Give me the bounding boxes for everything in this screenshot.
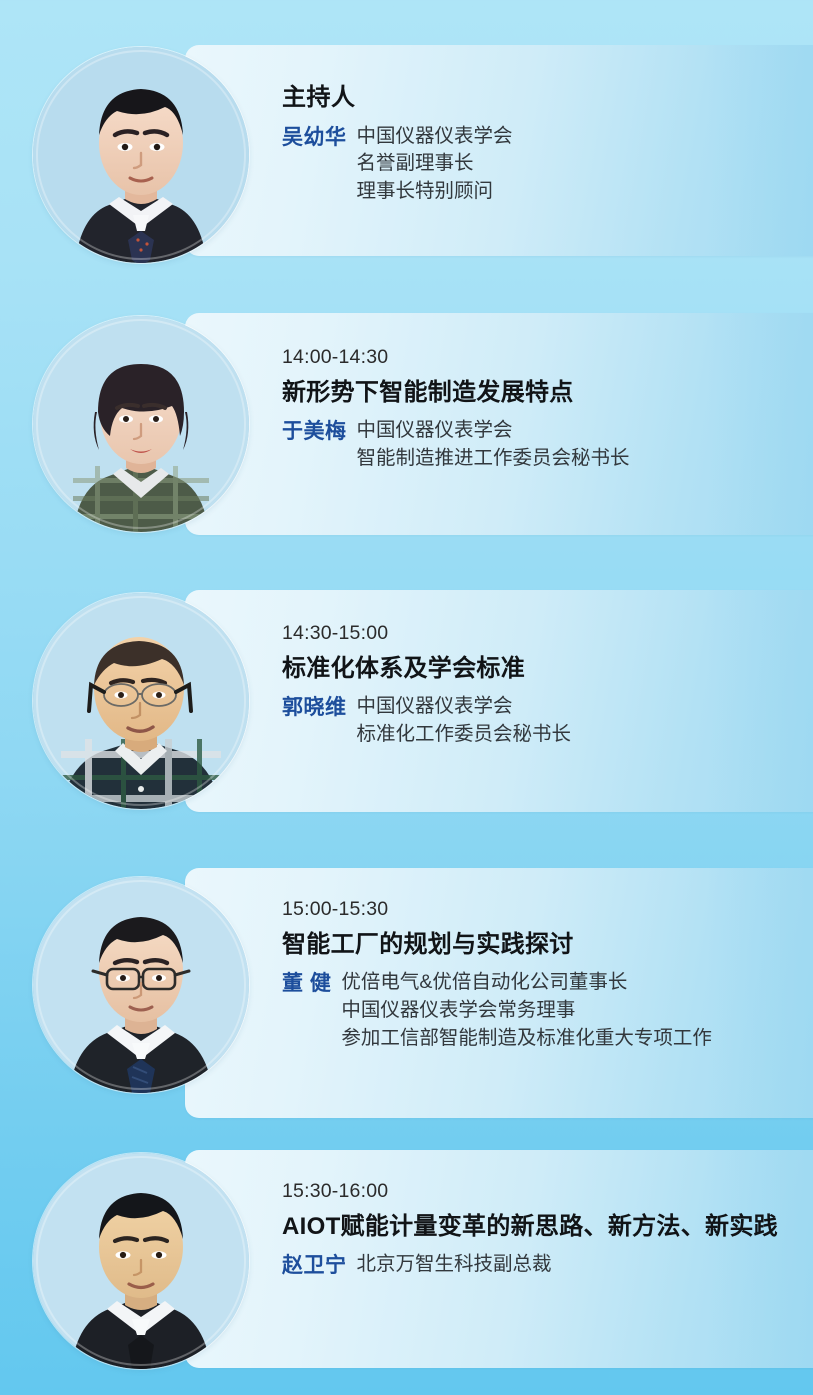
affiliation-item: 中国仪器仪表学会 [357, 693, 806, 721]
session-time-s3: 15:00-15:30 [282, 898, 805, 920]
avatar-host [33, 47, 249, 263]
affiliation-item: 参加工信部智能制造及标准化重大专项工作 [341, 1025, 805, 1053]
affiliation-list-s1: 中国仪器仪表学会 智能制造推进工作委员会秘书长 [357, 417, 806, 472]
session-text-s1: 14:00-14:30 新形势下智能制造发展特点 于美梅 中国仪器仪表学会 智能… [282, 346, 805, 473]
session-text-host: 主持人 吴幼华 中国仪器仪表学会 名誉副理事长 理事长特别顾问 [282, 84, 805, 206]
affiliation-item: 智能制造推进工作委员会秘书长 [357, 445, 806, 473]
affiliation-list-s3: 优倍电气&优倍自动化公司董事长 中国仪器仪表学会常务理事 参加工信部智能制造及标… [341, 969, 805, 1052]
avatar-photo-s3 [33, 877, 249, 1093]
session-time-s4: 15:30-16:00 [282, 1180, 805, 1202]
avatar-photo-s4 [33, 1153, 249, 1369]
avatar-s4 [33, 1153, 249, 1369]
session-text-s2: 14:30-15:00 标准化体系及学会标准 郭晓维 中国仪器仪表学会 标准化工… [282, 622, 805, 749]
speaker-name-s2: 郭晓维 [282, 693, 347, 723]
session-topic-s4: AIOT赋能计量变革的新思路、新方法、新实践 [282, 1213, 805, 1242]
session-topic-s1: 新形势下智能制造发展特点 [282, 379, 805, 408]
avatar-s3 [33, 877, 249, 1093]
affiliation-item: 中国仪器仪表学会常务理事 [341, 997, 805, 1025]
speaker-line-s3: 董 健 优倍电气&优倍自动化公司董事长 中国仪器仪表学会常务理事 参加工信部智能… [282, 969, 805, 1052]
affiliation-item: 中国仪器仪表学会 [357, 123, 806, 151]
affiliation-item: 优倍电气&优倍自动化公司董事长 [341, 969, 805, 997]
affiliation-list-host: 中国仪器仪表学会 名誉副理事长 理事长特别顾问 [357, 123, 806, 206]
speaker-name-s1: 于美梅 [282, 417, 347, 447]
affiliation-item: 理事长特别顾问 [357, 178, 806, 206]
speaker-line-s2: 郭晓维 中国仪器仪表学会 标准化工作委员会秘书长 [282, 693, 805, 748]
speaker-line-s4: 赵卫宁 北京万智生科技副总裁 [282, 1251, 805, 1281]
role-label-host: 主持人 [282, 84, 805, 113]
session-time-s1: 14:00-14:30 [282, 346, 805, 368]
speaker-name-s4: 赵卫宁 [282, 1251, 347, 1281]
speaker-name-host: 吴幼华 [282, 123, 347, 153]
affiliation-list-s2: 中国仪器仪表学会 标准化工作委员会秘书长 [357, 693, 806, 748]
session-text-s4: 15:30-16:00 AIOT赋能计量变革的新思路、新方法、新实践 赵卫宁 北… [282, 1180, 805, 1281]
affiliation-item: 北京万智生科技副总裁 [357, 1251, 806, 1279]
affiliation-item: 标准化工作委员会秘书长 [357, 721, 806, 749]
session-time-s2: 14:30-15:00 [282, 622, 805, 644]
speaker-name-s3: 董 健 [282, 969, 331, 999]
avatar-photo-s2 [33, 593, 249, 809]
avatar-s2 [33, 593, 249, 809]
session-topic-s2: 标准化体系及学会标准 [282, 655, 805, 684]
affiliation-item: 中国仪器仪表学会 [357, 417, 806, 445]
affiliation-item: 名誉副理事长 [357, 150, 806, 178]
speaker-line-host: 吴幼华 中国仪器仪表学会 名誉副理事长 理事长特别顾问 [282, 123, 805, 206]
session-text-s3: 15:00-15:30 智能工厂的规划与实践探讨 董 健 优倍电气&优倍自动化公… [282, 898, 805, 1052]
speaker-agenda-list: 主持人 吴幼华 中国仪器仪表学会 名誉副理事长 理事长特别顾问 [0, 0, 813, 1395]
affiliation-list-s4: 北京万智生科技副总裁 [357, 1251, 806, 1279]
avatar-photo-host [33, 47, 249, 263]
session-topic-s3: 智能工厂的规划与实践探讨 [282, 931, 805, 960]
speaker-line-s1: 于美梅 中国仪器仪表学会 智能制造推进工作委员会秘书长 [282, 417, 805, 472]
avatar-photo-s1 [33, 316, 249, 532]
avatar-s1 [33, 316, 249, 532]
